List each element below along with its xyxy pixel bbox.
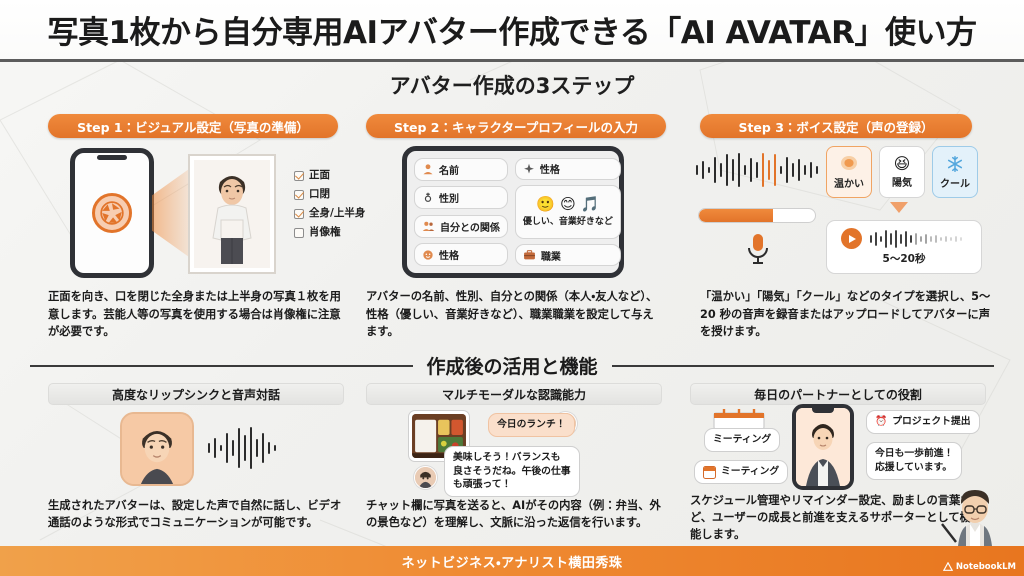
recording-progress-slider[interactable] — [698, 208, 816, 223]
avatar-in-phone — [796, 408, 850, 486]
checkbox-icon[interactable] — [294, 209, 304, 219]
tone-label: 温かい — [834, 175, 864, 190]
phone-notch — [97, 155, 127, 160]
field-gender[interactable]: 性別 — [414, 186, 508, 209]
snowflake-icon — [946, 155, 964, 173]
camera-aperture-icon — [92, 193, 132, 233]
sparkle-icon — [523, 163, 535, 175]
feature-2-pill: マルチモーダルな認識能力 — [366, 383, 662, 405]
feature-2-description: チャット欄に写真を送ると、AIがその内容（例：弁当、外の景色など）を理解し、文脈… — [366, 497, 666, 531]
feature-1-description: 生成されたアバターは、設定した声で自然に話し、ビデオ通話のような形式でコミュニケ… — [48, 497, 348, 531]
step-2-description: アバターの名前、性別、自分との関係（本人・友人など）、性格（優しい、音業好きなど… — [366, 288, 662, 341]
field-label: 性別 — [439, 190, 459, 205]
badge-label: プロジェクト提出 — [892, 415, 970, 429]
field-label: 名前 — [439, 162, 459, 177]
chat-bubble-user: 今日のランチ！ — [488, 413, 575, 437]
checklist-item[interactable]: 肖像権 — [294, 223, 365, 242]
field-occupation[interactable]: 職業 — [515, 244, 621, 266]
feature-3-illustration: ミーティング ミーティング ⏰ プロジェクト提出 今日も一歩前進！ 応援していま… — [690, 404, 990, 490]
reminder-badge-meeting-2: ミーティング — [694, 460, 788, 484]
tone-label: クール — [940, 175, 970, 190]
briefcase-icon — [523, 249, 536, 261]
step-1-description: 正面を向き、口を閉じた全身または上半身の写真１枚を用意します。芸能人等の写真を使… — [48, 288, 344, 341]
microphone-icon[interactable] — [744, 232, 772, 266]
divider-right — [612, 365, 995, 367]
avatar-portrait — [122, 414, 192, 484]
page-title: 写真1枚から自分専用AIアバター作成できる「AI AVATAR」使い方 — [47, 7, 976, 52]
laughing-face-icon: 😆 — [894, 156, 911, 172]
footer-credit: ネットビジネス・アナリスト横田秀珠 — [402, 552, 623, 571]
sample-duration-label: 5〜20秒 — [883, 251, 926, 266]
aperture-glyph — [99, 200, 125, 226]
tone-option-cheerful[interactable]: 😆 陽気 — [879, 146, 925, 198]
checklist-label: 正面 — [309, 166, 330, 185]
feature-1-pill: 高度なリップシンクと音声対話 — [48, 383, 344, 405]
feature-3-description: スケジュール管理やリマインダー設定、励ましの言葉など、ユーザーの成長と前進を支え… — [690, 492, 976, 543]
field-traits[interactable]: 🙂 😊 🎵 優しい、音業好きなど — [515, 185, 621, 238]
tone-label: 陽気 — [892, 174, 912, 189]
person-portrait-illustration — [194, 160, 270, 268]
slider-fill — [699, 209, 773, 222]
chat-bubble-ai: 美味しそう！バランスも 良さそうだね。午後の仕事 も頑張って！ — [444, 446, 580, 497]
warm-glow-icon — [839, 155, 859, 173]
avatar-icon-ai — [414, 466, 437, 489]
checkbox-icon[interactable] — [294, 228, 304, 238]
checkbox-icon[interactable] — [294, 190, 304, 200]
personality-icon — [422, 249, 434, 261]
step-2-pill: Step 2：キャラクタープロフィールの入力 — [366, 114, 666, 138]
step-3-pill: Step 3：ボイス設定（声の登録） — [700, 114, 972, 138]
infographic-page: 写真1枚から自分専用AIアバター作成できる「AI AVATAR」使い方 アバター… — [0, 0, 1024, 576]
page-title-bar: 写真1枚から自分専用AIアバター作成できる「AI AVATAR」使い方 — [0, 0, 1024, 62]
field-label: 自分との関係 — [440, 219, 500, 234]
relation-icon — [422, 220, 435, 232]
calendar-top-icon — [712, 408, 766, 430]
avatar-face-graphic — [120, 412, 194, 486]
checklist-item[interactable]: 正面 — [294, 166, 365, 185]
checklist-label: 口閉 — [309, 185, 330, 204]
voice-tone-options: 温かい 😆 陽気 クール — [826, 146, 978, 198]
notebooklm-badge: NotebookLM — [943, 562, 1016, 572]
person-icon — [422, 163, 434, 175]
footer-bar: ネットビジネス・アナリスト横田秀珠 NotebookLM — [0, 546, 1024, 576]
photo-requirements-checklist: 正面 口閉 全身/上半身 肖像権 — [294, 166, 365, 242]
checklist-item[interactable]: 全身/上半身 — [294, 204, 365, 223]
checkbox-icon[interactable] — [294, 171, 304, 181]
reference-photo-frame — [188, 154, 276, 274]
step-3-illustration: 温かい 😆 陽気 クール — [690, 146, 982, 282]
notebooklm-logo-icon — [943, 562, 953, 572]
phone-notch — [812, 408, 834, 413]
step-1-pill: Step 1：ビジュアル設定（写真の準備） — [48, 114, 338, 138]
music-note-icon: 🎵 — [581, 197, 600, 212]
presenter-illustration — [940, 480, 1010, 546]
form-column-right: 性格 🙂 😊 🎵 優しい、音業好きなど 職業 — [515, 158, 621, 266]
voice-waveform-graphic — [694, 152, 822, 188]
play-button[interactable] — [841, 228, 862, 249]
smartphone-avatar-graphic — [792, 404, 854, 490]
reference-photo — [194, 160, 270, 268]
calendar-icon — [703, 466, 716, 479]
reminder-badge-project: ⏰ プロジェクト提出 — [866, 410, 980, 434]
feature-3-pill: 毎日のパートナーとしての役割 — [690, 383, 986, 405]
step-3-description: 「温かい」「陽気」「クール」などのタイプを選択し、5〜 20 秒の音声を録音また… — [700, 288, 996, 341]
field-relationship[interactable]: 自分との関係 — [414, 215, 508, 238]
smile-emoji-icon: 🙂 — [536, 197, 555, 212]
checklist-item[interactable]: 口閉 — [294, 185, 365, 204]
field-label: 性格 — [439, 247, 459, 262]
arrow-down-icon — [890, 202, 908, 213]
features-heading-text: 作成後の活用と機能 — [427, 352, 598, 379]
smartphone-graphic — [70, 148, 154, 278]
feature-2-illustration: 今日のランチ！ 美味しそう！バランスも 良さそうだね。午後の仕事 も頑張って！ — [366, 408, 666, 492]
steps-heading: アバター作成の3ステップ — [0, 70, 1024, 100]
encouragement-bubble: 今日も一歩前進！ 応援しています。 — [866, 442, 962, 480]
field-label: 優しい、音業好きなど — [523, 214, 613, 227]
voice-sample-player[interactable]: 5〜20秒 — [826, 220, 982, 274]
divider-left — [30, 365, 413, 367]
step-2-illustration: 名前 性別 自分との関係 — [366, 146, 666, 280]
field-personality-left[interactable]: 性格 — [414, 243, 508, 266]
badge-label: ミーティング — [721, 465, 779, 479]
player-controls — [841, 228, 968, 249]
happy-emoji-icon: 😊 — [560, 197, 576, 212]
tone-option-warm[interactable]: 温かい — [826, 146, 872, 198]
player-waveform — [868, 229, 968, 249]
tablet-form-graphic: 名前 性別 自分との関係 — [402, 146, 624, 278]
field-label: 職業 — [541, 248, 561, 263]
trait-emoji-row: 🙂 😊 🎵 — [536, 197, 599, 212]
gender-icon — [422, 192, 434, 204]
field-label: 性格 — [540, 161, 560, 176]
form-column-left: 名前 性別 自分との関係 — [414, 158, 508, 266]
field-name[interactable]: 名前 — [414, 158, 508, 181]
step-1-illustration: 正面 口閉 全身/上半身 肖像権 — [48, 146, 340, 280]
field-personality-right[interactable]: 性格 — [515, 158, 621, 180]
speech-waveform-icon — [206, 426, 284, 470]
notebooklm-label: NotebookLM — [956, 562, 1016, 572]
reminder-badge-meeting-1: ミーティング — [704, 428, 780, 452]
alarm-clock-icon: ⏰ — [875, 415, 887, 429]
checklist-label: 全身/上半身 — [309, 204, 365, 223]
checklist-label: 肖像権 — [309, 223, 341, 242]
features-section-heading: 作成後の活用と機能 — [30, 352, 994, 379]
tone-option-cool[interactable]: クール — [932, 146, 978, 198]
feature-1-illustration — [48, 408, 344, 490]
